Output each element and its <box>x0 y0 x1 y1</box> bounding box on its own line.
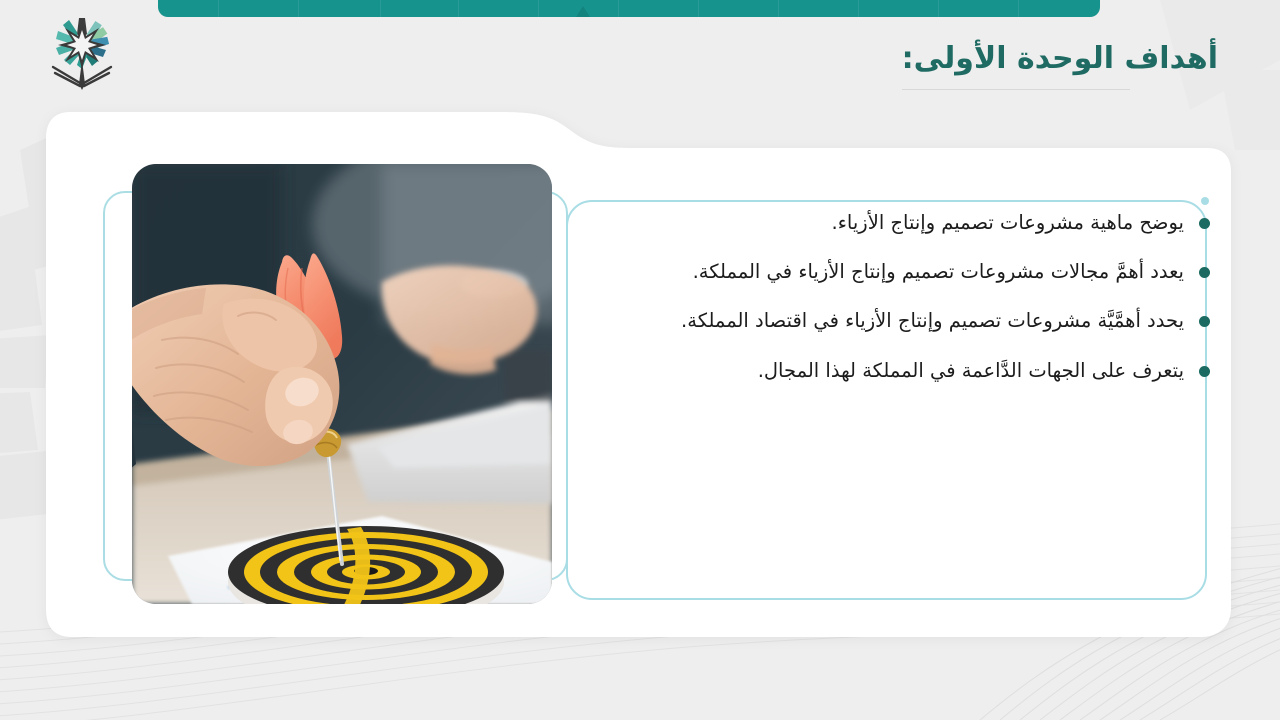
objective-text: يوضح ماهية مشروعات تصميم وإنتاج الأزياء. <box>665 208 1184 238</box>
title-underline-rule <box>902 89 1130 90</box>
page-title: أهداف الوحدة الأولى: <box>902 40 1218 78</box>
bullet-dot-icon <box>1199 218 1210 229</box>
list-item: يعدد أهمَّ مجالات مشروعات تصميم وإنتاج ا… <box>665 257 1210 287</box>
card-corner-dot <box>1201 197 1209 205</box>
bullet-dot-icon <box>1199 316 1210 327</box>
list-item: يحدد أهمَّيَّة مشروعات تصميم وإنتاج الأز… <box>665 306 1210 336</box>
bullet-dot-icon <box>1199 366 1210 377</box>
title-block: أهداف الوحدة الأولى: <box>902 40 1218 90</box>
objective-text: يحدد أهمَّيَّة مشروعات تصميم وإنتاج الأز… <box>665 306 1184 336</box>
objective-text: يعدد أهمَّ مجالات مشروعات تصميم وإنتاج ا… <box>665 257 1184 287</box>
institution-logo-icon <box>42 12 122 92</box>
top-teal-banner <box>158 0 1100 17</box>
presentation-slide: أهداف الوحدة الأولى: <box>0 0 1280 720</box>
objectives-list: يوضح ماهية مشروعات تصميم وإنتاج الأزياء.… <box>665 208 1210 405</box>
bullet-dot-icon <box>1199 267 1210 278</box>
list-item: يوضح ماهية مشروعات تصميم وإنتاج الأزياء. <box>665 208 1210 238</box>
dart-target-photo <box>132 164 552 604</box>
objective-text: يتعرف على الجهات الدَّاعمة في المملكة له… <box>665 356 1184 386</box>
list-item: يتعرف على الجهات الدَّاعمة في المملكة له… <box>665 356 1210 386</box>
